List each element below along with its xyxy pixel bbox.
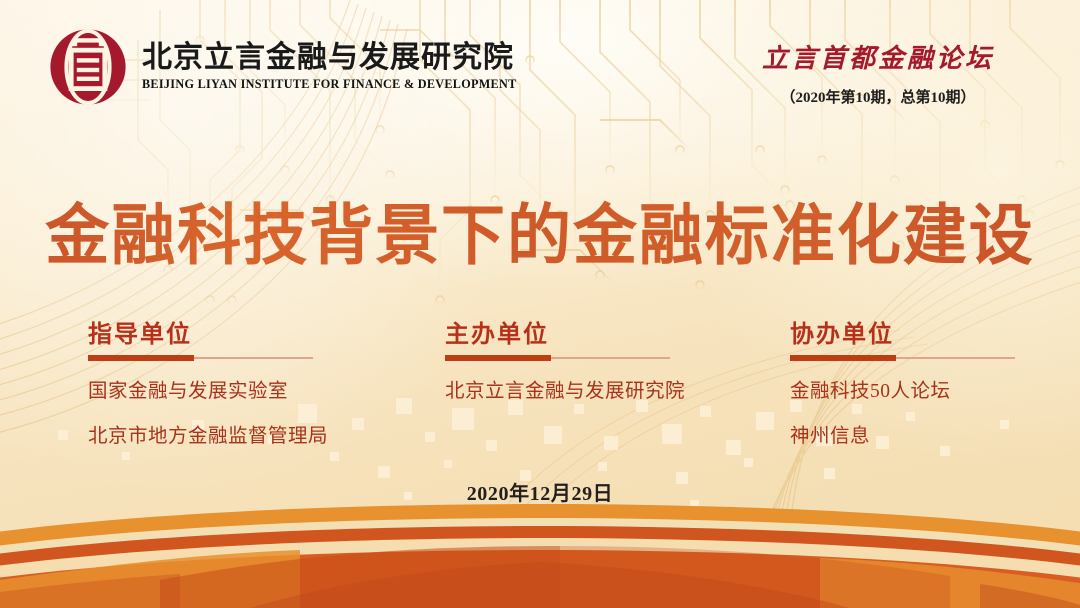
unit-heading: 协办单位 bbox=[790, 322, 1015, 348]
organization-name: 神州信息 bbox=[790, 419, 1015, 448]
unit-divider bbox=[88, 354, 313, 362]
unit-columns: 指导单位 国家金融与发展实验室 北京市地方金融监督管理局 主办单位 北京立言金融… bbox=[0, 322, 1080, 442]
page-title: 金融科技背景下的金融标准化建设 bbox=[16, 182, 1064, 278]
institute-logo: 北京立言金融与发展研究院 BEIJING LIYAN INSTITUTE FOR… bbox=[48, 27, 517, 107]
organization-name: 北京立言金融与发展研究院 bbox=[445, 374, 685, 403]
organization-name: 金融科技50人论坛 bbox=[790, 374, 1015, 403]
unit-column-coorganizer: 协办单位 金融科技50人论坛 神州信息 bbox=[790, 322, 1015, 448]
institute-name-cn: 北京立言金融与发展研究院 bbox=[142, 42, 517, 74]
unit-heading: 主办单位 bbox=[445, 322, 685, 348]
institute-seal-icon bbox=[48, 27, 128, 107]
event-poster: 北京立言金融与发展研究院 BEIJING LIYAN INSTITUTE FOR… bbox=[0, 0, 1080, 608]
poster-header: 北京立言金融与发展研究院 BEIJING LIYAN INSTITUTE FOR… bbox=[0, 0, 1080, 122]
organization-name: 国家金融与发展实验室 bbox=[88, 374, 328, 403]
unit-divider bbox=[790, 354, 1015, 362]
unit-divider bbox=[445, 354, 670, 362]
unit-heading: 指导单位 bbox=[88, 322, 328, 348]
institute-name-en: BEIJING LIYAN INSTITUTE FOR FINANCE & DE… bbox=[142, 77, 517, 92]
unit-column-organizer: 主办单位 北京立言金融与发展研究院 bbox=[445, 322, 685, 403]
unit-column-guiding: 指导单位 国家金融与发展实验室 北京市地方金融监督管理局 bbox=[88, 322, 328, 448]
forum-branding: 立言首都金融论坛 （2020年第10期，总第10期） bbox=[728, 38, 1028, 107]
forum-title: 立言首都金融论坛 bbox=[728, 38, 1028, 75]
organization-name: 北京市地方金融监督管理局 bbox=[88, 419, 328, 448]
forum-issue-number: （2020年第10期，总第10期） bbox=[728, 86, 1028, 107]
bottom-arc-decoration bbox=[0, 488, 1080, 608]
